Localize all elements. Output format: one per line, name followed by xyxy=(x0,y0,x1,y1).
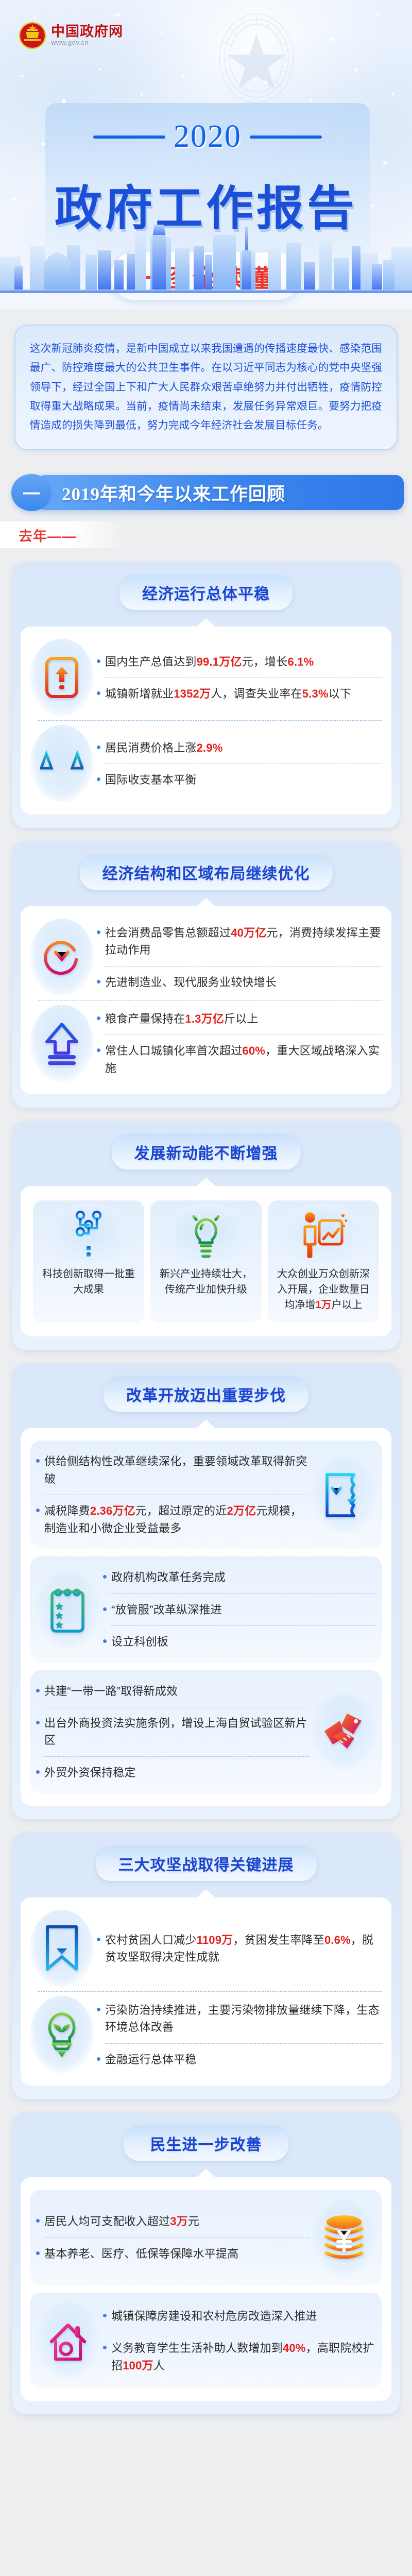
card-notch xyxy=(197,898,215,906)
card-body: 供给侧结构性改革继续深化，重要领域改革取得新突破减税降费2.36万亿元，超过原定… xyxy=(21,1428,391,1806)
bullet-dot-icon xyxy=(36,2251,40,2255)
year-tag-label: 去年—— xyxy=(19,525,76,545)
list-item-text: 常住人口城镇化率首次超过60%，重大区域战略深入实施 xyxy=(105,1042,382,1077)
column-item: 新兴产业持续壮大，传统产业加快升级 xyxy=(150,1200,262,1323)
list-item: 金融运行总体平稳 xyxy=(97,2048,382,2071)
content-card: 发展新动能不断增强科技创新取得一批重大成果新兴产业持续壮大，传统产业加快升级大众… xyxy=(12,1121,400,1350)
list-item: 国际收支基本平衡 xyxy=(97,768,382,791)
bullet-dot-icon xyxy=(97,691,100,695)
bullet-dot-icon xyxy=(36,1721,40,1724)
site-url: www.gov.cn xyxy=(51,39,89,46)
list-item: 政府机构改革任务完成 xyxy=(103,1566,376,1589)
eco-leaf-bulb-icon xyxy=(30,1996,94,2073)
list-item: 城镇新增就业1352万人，调查失业率在5.3%以下 xyxy=(97,682,382,705)
card-notch xyxy=(197,1420,215,1428)
card-body: 社会消费品零售总额超过40万亿元，消费持续发挥主要拉动作用先进制造业、现代服务业… xyxy=(21,906,391,1094)
hero-year: 2020 xyxy=(174,118,242,155)
list-item: 设立科创板 xyxy=(103,1630,376,1653)
bullet-dot-icon xyxy=(97,777,100,781)
card-title: 经济结构和区域布局继续优化 xyxy=(102,866,310,883)
card-notch xyxy=(197,618,215,626)
bullet-list: 社会消费品零售总额超过40万亿元，消费持续发挥主要拉动作用先进制造业、现代服务业… xyxy=(97,921,382,994)
yuan-plus-icon xyxy=(30,919,94,996)
presenter-chart-icon xyxy=(277,1204,370,1264)
bullet-list: 供给侧结构性改革继续深化，重要领域改革取得新突破减税降费2.36万亿元，超过原定… xyxy=(36,1450,309,1540)
list-item-text: 先进制造业、现代服务业较快增长 xyxy=(105,974,277,991)
icon-text-row: 居民人均可支配收入超过3万元基本养老、医疗、低保等保障水平提高 xyxy=(36,2199,376,2276)
bullet-dot-icon xyxy=(97,980,100,984)
list-item-text: “放管服”改革纵深推进 xyxy=(111,1601,222,1618)
bullet-divider xyxy=(111,2332,376,2332)
card-body: 国内生产总值达到99.1万亿元，增长6.1%城镇新增就业1352万人，调查失业率… xyxy=(21,626,391,815)
bullet-divider xyxy=(38,1991,382,1992)
content-card: 三大攻坚战取得关键进展农村贫困人口减少1109万，贫困发生率降至0.6%，脱贫攻… xyxy=(12,1833,400,2099)
bullet-divider xyxy=(44,1756,309,1757)
list-item-text: 政府机构改革任务完成 xyxy=(111,1569,226,1586)
list-item-text: 城镇保障房建设和农村危房改造深入推进 xyxy=(111,2308,317,2325)
icon-text-row: 城镇保障房建设和农村危房改造深入推进义务教育学生生活补助人数增加到40%，高职院… xyxy=(36,2302,376,2379)
list-item: “放管服”改革纵深推进 xyxy=(103,1598,376,1621)
list-item-text: 国际收支基本平衡 xyxy=(105,771,197,788)
bullet-divider xyxy=(38,1000,382,1001)
list-item: 居民消费价格上涨2.9% xyxy=(97,736,382,759)
bullet-dot-icon xyxy=(97,2057,100,2061)
group-panel: 共建“一带一路”取得新成效出台外商投资法实施条例，增设上海自贸试验区新片区外贸外… xyxy=(30,1670,382,1794)
bullet-list: 政府机构改革任务完成“放管服”改革纵深推进设立科创板 xyxy=(103,1566,376,1653)
list-item-text: 设立科创板 xyxy=(111,1633,168,1650)
section-number: 一 xyxy=(23,480,40,505)
icon-text-row: 农村贫困人口减少1109万，贫困发生率降至0.6%，脱贫攻坚取得决定性成就 xyxy=(30,1910,382,1987)
card-body: 科技创新取得一批重大成果新兴产业持续壮大，传统产业加快升级大众创业万众创新深入开… xyxy=(21,1186,391,1336)
bullet-list: 国内生产总值达到99.1万亿元，增长6.1%城镇新增就业1352万人，调查失业率… xyxy=(97,650,382,706)
icon-text-row: 污染防治持续推进，主要污染物排放量继续下降，生态环境总体改善金融运行总体平稳 xyxy=(30,1996,382,2073)
list-item: 义务教育学生生活补助人数增加到40%，高职院校扩招100万人 xyxy=(103,2336,376,2377)
card-title-pill: 三大攻坚战取得关键进展 xyxy=(96,1846,317,1881)
bullet-dot-icon xyxy=(97,2008,100,2011)
bullet-dot-icon xyxy=(36,1509,40,1512)
card-notch xyxy=(197,1889,215,1897)
bullet-divider xyxy=(44,1495,309,1495)
bullet-dot-icon xyxy=(36,1689,40,1692)
list-item-text: 居民人均可支配收入超过3万元 xyxy=(44,2213,199,2230)
infographic-page: 中国政府网 www.gov.cn 2020 政府工作报告 一图全读懂 xyxy=(0,0,412,2435)
bullet-dot-icon xyxy=(97,1938,100,1941)
group-panel: 供给侧结构性改革继续深化，重要领域改革取得新突破减税降费2.36万亿元，超过原定… xyxy=(30,1440,382,1549)
bullet-dot-icon xyxy=(36,2219,40,2223)
bullet-divider xyxy=(105,677,382,678)
group-panel: 政府机构改革任务完成“放管服”改革纵深推进设立科创板 xyxy=(30,1556,382,1663)
checklist-clipboard-icon xyxy=(36,1571,100,1648)
bullet-divider xyxy=(105,1035,382,1035)
year-tag: 去年—— xyxy=(0,521,129,548)
list-item: 基本养老、医疗、低保等保障水平提高 xyxy=(36,2242,309,2265)
bullet-list: 共建“一带一路”取得新成效出台外商投资法实施条例，增设上海自贸试验区新片区外贸外… xyxy=(36,1680,309,1785)
icon-text-row: 共建“一带一路”取得新成效出台外商投资法实施条例，增设上海自贸试验区新片区外贸外… xyxy=(36,1680,376,1785)
coin-stack-icon xyxy=(312,2199,376,2276)
bullet-list: 粮食产量保持在1.3万亿斤以上常住人口城镇化率首次超过60%，重大区域战略深入实… xyxy=(97,1007,382,1080)
bullet-dot-icon xyxy=(36,1770,40,1774)
bullet-dot-icon xyxy=(103,1607,107,1611)
bullet-divider xyxy=(105,764,382,764)
bullet-dot-icon xyxy=(97,745,100,749)
content-card: 经济运行总体平稳国内生产总值达到99.1万亿元，增长6.1%城镇新增就业1352… xyxy=(12,562,400,828)
bullet-list: 居民人均可支配收入超过3万元基本养老、医疗、低保等保障水平提高 xyxy=(36,2210,309,2265)
bullet-divider xyxy=(44,2238,309,2238)
bullet-dot-icon xyxy=(103,1575,107,1579)
up-arrow-box-icon xyxy=(30,639,94,716)
card-title: 民生进一步改善 xyxy=(150,2137,262,2154)
list-item: 污染防治持续推进，主要污染物排放量继续下降，生态环境总体改善 xyxy=(97,1998,382,2039)
list-item: 农村贫困人口减少1109万，贫困发生率降至0.6%，脱贫攻坚取得决定性成就 xyxy=(97,1928,382,1969)
section-number-badge: 一 xyxy=(11,474,51,511)
cards-container: 经济运行总体平稳国内生产总值达到99.1万亿元，增长6.1%城镇新增就业1352… xyxy=(0,562,412,2414)
house-key-icon xyxy=(36,2302,100,2379)
rule-left xyxy=(93,135,165,139)
list-item-text: 出台外商投资法实施条例，增设上海自贸试验区新片区 xyxy=(44,1715,309,1749)
bullet-dot-icon xyxy=(36,1459,40,1463)
column-item: 科技创新取得一批重大成果 xyxy=(33,1200,144,1323)
icon-text-row: 政府机构改革任务完成“放管服”改革纵深推进设立科创板 xyxy=(36,1566,376,1653)
list-item: 国内生产总值达到99.1万亿元，增长6.1% xyxy=(97,650,382,673)
content-card: 经济结构和区域布局继续优化社会消费品零售总额超过40万亿元，消费持续发挥主要拉动… xyxy=(12,841,400,1108)
list-item-text: 基本养老、医疗、低保等保障水平提高 xyxy=(44,2245,238,2262)
card-body: 居民人均可支配收入超过3万元基本养老、医疗、低保等保障水平提高城镇保障房建设和农… xyxy=(21,2177,391,2401)
bullet-dot-icon xyxy=(103,2314,107,2317)
bullet-dot-icon xyxy=(97,930,100,934)
card-title: 经济运行总体平稳 xyxy=(142,586,270,603)
list-item-text: 居民消费价格上涨2.9% xyxy=(105,739,223,756)
list-item-text: 农村贫困人口减少1109万，贫困发生率降至0.6%，脱贫攻坚取得决定性成就 xyxy=(105,1931,382,1966)
bullet-dot-icon xyxy=(97,1016,100,1020)
list-item-text: 金融运行总体平稳 xyxy=(105,2051,197,2068)
card-title: 发展新动能不断增强 xyxy=(134,1145,278,1162)
rule-right xyxy=(250,135,322,139)
icon-text-row: 粮食产量保持在1.3万亿斤以上常住人口城镇化率首次超过60%，重大区域战略深入实… xyxy=(30,1005,382,1082)
icon-text-row: 居民消费价格上涨2.9%国际收支基本平衡 xyxy=(30,725,382,802)
hero-year-row: 2020 xyxy=(45,118,370,155)
intro-section: 这次新冠肺炎疫情，是新中国成立以来我国遭遇的传播速度最快、感染范围最广、防控难度… xyxy=(0,309,412,454)
handshake-icon xyxy=(312,1693,376,1770)
list-item: 共建“一带一路”取得新成效 xyxy=(36,1680,309,1703)
card-title: 改革开放迈出重要步伐 xyxy=(126,1387,286,1404)
list-item: 外贸外资保持稳定 xyxy=(36,1761,309,1784)
content-card: 民生进一步改善居民人均可支配收入超过3万元基本养老、医疗、低保等保障水平提高城镇… xyxy=(12,2112,400,2414)
balance-scale-icon xyxy=(30,725,94,802)
list-item-text: 社会消费品零售总额超过40万亿元，消费持续发挥主要拉动作用 xyxy=(105,924,382,959)
list-item: 供给侧结构性改革继续深化，重要领域改革取得新突破 xyxy=(36,1450,309,1490)
list-item: 出台外商投资法实施条例，增设上海自贸试验区新片区 xyxy=(36,1711,309,1752)
bullet-list: 污染防治持续推进，主要污染物排放量继续下降，生态环境总体改善金融运行总体平稳 xyxy=(97,1998,382,2071)
bullet-dot-icon xyxy=(103,2346,107,2349)
icon-text-row: 国内生产总值达到99.1万亿元，增长6.1%城镇新增就业1352万人，调查失业率… xyxy=(30,639,382,716)
list-item-text: 城镇新增就业1352万人，调查失业率在5.3%以下 xyxy=(105,685,351,702)
card-title-pill: 民生进一步改善 xyxy=(124,2126,288,2161)
card-notch xyxy=(197,2169,215,2177)
list-item-text: 供给侧结构性改革继续深化，重要领域改革取得新突破 xyxy=(44,1453,309,1487)
list-item: 减税降费2.36万亿元，超过原定的近2万亿元规模，制造业和小微企业受益最多 xyxy=(36,1499,309,1540)
list-item-text: 污染防治持续推进，主要污染物排放量继续下降，生态环境总体改善 xyxy=(105,2002,382,2036)
section-title: 2019年和今年以来工作回顾 xyxy=(62,480,285,506)
list-item: 粮食产量保持在1.3万亿斤以上 xyxy=(97,1007,382,1030)
list-item: 居民人均可支配收入超过3万元 xyxy=(36,2210,309,2233)
bullet-dot-icon xyxy=(103,1639,107,1643)
column-caption: 科技创新取得一批重大成果 xyxy=(38,1266,139,1297)
bullet-list: 城镇保障房建设和农村危房改造深入推进义务教育学生生活补助人数增加到40%，高职院… xyxy=(103,2304,376,2377)
card-body: 农村贫困人口减少1109万，贫困发生率降至0.6%，脱贫攻坚取得决定性成就污染防… xyxy=(21,1897,391,2086)
column-group: 科技创新取得一批重大成果新兴产业持续壮大，传统产业加快升级大众创业万众创新深入开… xyxy=(30,1198,382,1324)
list-item: 先进制造业、现代服务业较快增长 xyxy=(97,971,382,994)
bullet-divider xyxy=(44,1707,309,1707)
list-item-text: 外贸外资保持稳定 xyxy=(44,1764,136,1781)
content-card: 改革开放迈出重要步伐供给侧结构性改革继续深化，重要领域改革取得新突破减税降费2.… xyxy=(12,1363,400,1819)
bullet-divider xyxy=(111,1625,376,1626)
card-title-pill: 改革开放迈出重要步伐 xyxy=(104,1377,308,1412)
card-title-pill: 发展新动能不断增强 xyxy=(112,1134,301,1170)
list-item: 社会消费品零售总额超过40万亿元，消费持续发挥主要拉动作用 xyxy=(97,921,382,962)
hero-banner: 中国政府网 www.gov.cn 2020 政府工作报告 一图全读懂 xyxy=(0,0,412,309)
bullet-divider xyxy=(105,966,382,967)
group-panel: 城镇保障房建设和农村危房改造深入推进义务教育学生生活补助人数增加到40%，高职院… xyxy=(30,2293,382,2388)
icon-text-row: 供给侧结构性改革继续深化，重要领域改革取得新突破减税降费2.36万亿元，超过原定… xyxy=(36,1450,376,1540)
bullet-divider xyxy=(111,1594,376,1594)
city-skyline-illustration xyxy=(0,216,412,293)
card-title-pill: 经济运行总体平稳 xyxy=(119,575,293,610)
column-caption: 新兴产业持续壮大，传统产业加快升级 xyxy=(156,1266,256,1297)
icon-text-row: 社会消费品零售总额超过40万亿元，消费持续发挥主要拉动作用先进制造业、现代服务业… xyxy=(30,919,382,996)
lightbulb-icon xyxy=(160,1204,252,1264)
card-title: 三大攻坚战取得关键进展 xyxy=(118,1857,294,1874)
column-caption: 大众创业万众创新深入开展，企业数量日均净增1万户以上 xyxy=(273,1266,374,1313)
intro-card: 这次新冠肺炎疫情，是新中国成立以来我国遭遇的传播速度最快、感染范围最广、防控难度… xyxy=(14,325,398,450)
bullet-list: 农村贫困人口减少1109万，贫困发生率降至0.6%，脱贫攻坚取得决定性成就 xyxy=(97,1928,382,1969)
section-header: 2019年和今年以来工作回顾 一 xyxy=(11,468,412,514)
up-arrow-lines-icon xyxy=(30,1005,94,1082)
bookmark-down-icon xyxy=(30,1910,94,1987)
list-item: 常住人口城镇化率首次超过60%，重大区域战略深入实施 xyxy=(97,1039,382,1080)
card-notch xyxy=(197,1178,215,1186)
national-emblem-icon xyxy=(19,22,46,49)
site-name: 中国政府网 xyxy=(51,24,123,39)
column-item: 大众创业万众创新深入开展，企业数量日均净增1万户以上 xyxy=(268,1200,379,1323)
list-item-text: 共建“一带一路”取得新成效 xyxy=(44,1683,178,1700)
intro-paragraph: 这次新冠肺炎疫情，是新中国成立以来我国遭遇的传播速度最快、感染范围最广、防控难度… xyxy=(30,339,382,435)
group-panel: 居民人均可支配收入超过3万元基本养老、医疗、低保等保障水平提高 xyxy=(30,2190,382,2285)
yuan-down-document-icon xyxy=(312,1456,376,1534)
list-item: 城镇保障房建设和农村危房改造深入推进 xyxy=(103,2304,376,2328)
site-logo[interactable]: 中国政府网 www.gov.cn xyxy=(19,22,123,49)
list-item-text: 粮食产量保持在1.3万亿斤以上 xyxy=(105,1010,259,1027)
list-item-text: 减税降费2.36万亿元，超过原定的近2万亿元规模，制造业和小微企业受益最多 xyxy=(44,1502,309,1537)
list-item-text: 义务教育学生生活补助人数增加到40%，高职院校扩招100万人 xyxy=(111,2340,376,2374)
bullet-divider xyxy=(105,2043,382,2044)
bullet-divider xyxy=(38,720,382,721)
bullet-list: 居民消费价格上涨2.9%国际收支基本平衡 xyxy=(97,736,382,792)
bullet-dot-icon xyxy=(97,659,100,663)
list-item-text: 国内生产总值达到99.1万亿元，增长6.1% xyxy=(105,653,314,670)
bottom-spacer xyxy=(0,2414,412,2435)
bullet-dot-icon xyxy=(97,1048,100,1052)
circuit-tree-icon xyxy=(42,1204,135,1264)
section-title-bar: 2019年和今年以来工作回顾 xyxy=(37,475,404,510)
card-title-pill: 经济结构和区域布局继续优化 xyxy=(80,855,333,890)
